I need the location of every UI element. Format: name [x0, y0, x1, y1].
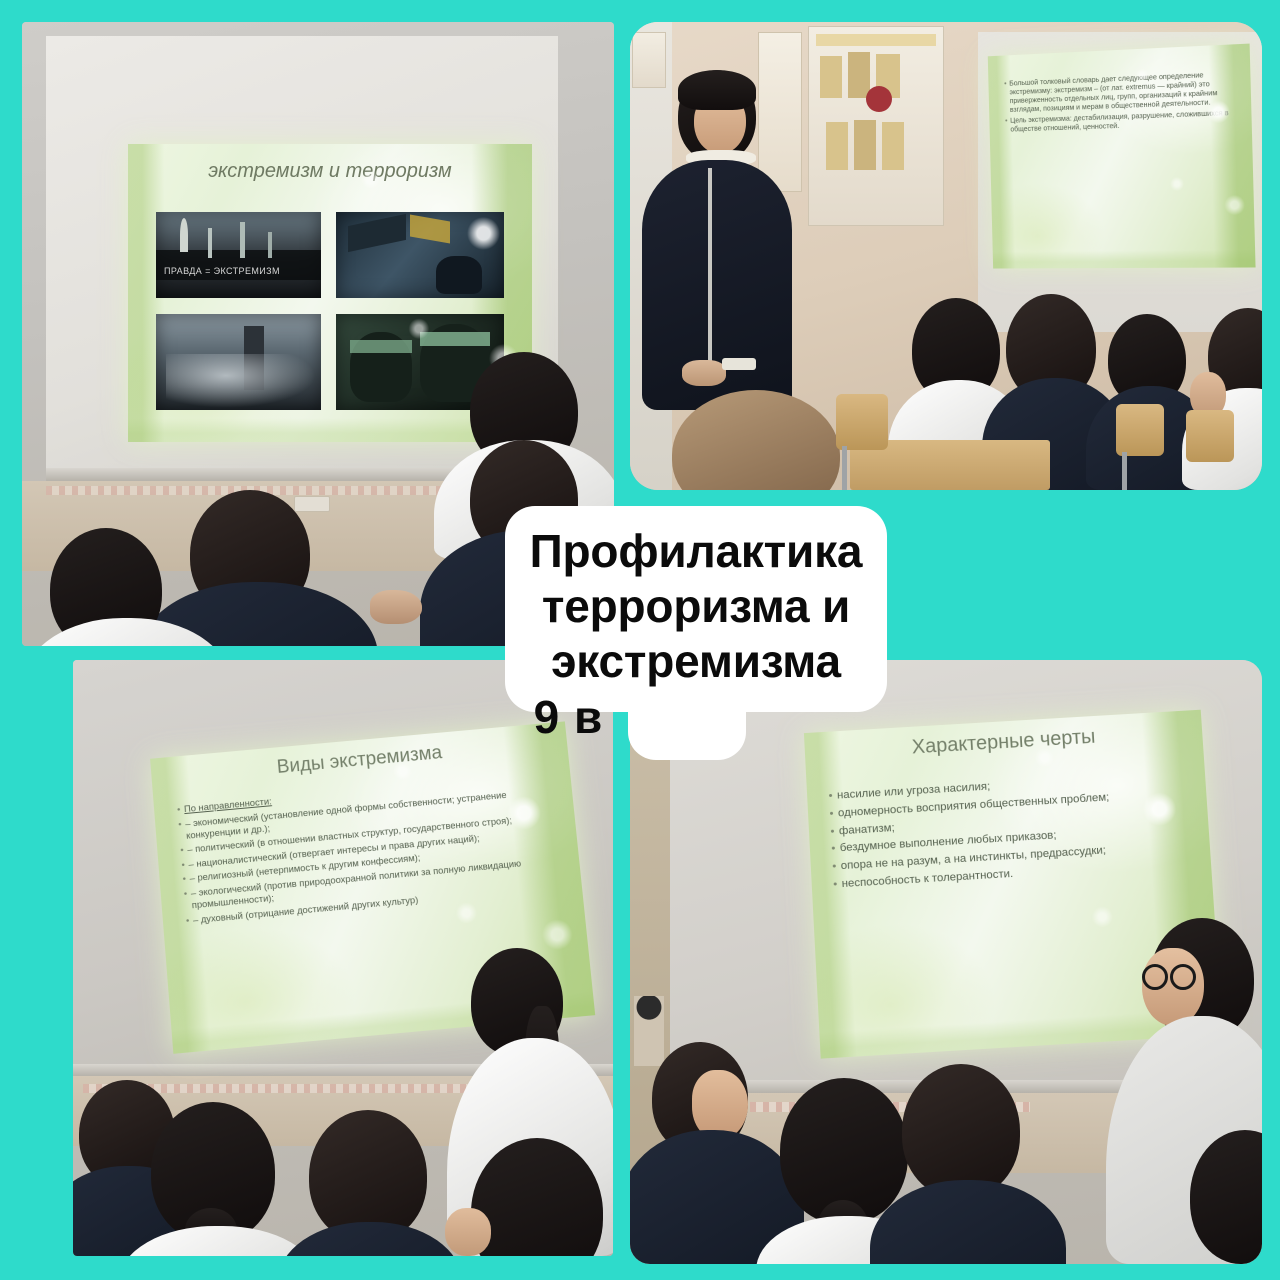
student-head [902, 1064, 1020, 1198]
teacher-hand [682, 360, 726, 386]
chair [836, 394, 888, 450]
photo-panel-bottom-left: Виды экстремизма По направленности: – эк… [73, 660, 613, 1256]
student-hand [370, 590, 422, 624]
slide-bullet-list: насилие или угроза насилия; одномерность… [837, 768, 1194, 895]
photo-panel-bottom-right: Характерные черты насилие или угроза нас… [630, 660, 1262, 1264]
slide-definition-of-extremism: Большой толковый словарь дает следующее … [988, 44, 1256, 269]
slide-photo-2 [336, 212, 504, 298]
title-line-3: экстремизма [505, 634, 887, 689]
glasses-icon [1170, 964, 1196, 990]
title-line-1: Профилактика [505, 524, 887, 579]
title-line-grade: 9 в [250, 690, 887, 745]
slide-bullet-list: Большой толковый словарь дает следующее … [1009, 69, 1237, 136]
anatomy-chart [634, 996, 664, 1066]
photo-panel-top-right: Большой толковый словарь дает следующее … [630, 22, 1262, 490]
wall-poster [758, 32, 802, 192]
chair [1116, 404, 1164, 456]
title-line-2: терроризма и [505, 579, 887, 634]
slide-photo-3 [156, 314, 321, 410]
chair [1186, 410, 1234, 462]
title-text: Профилактика терроризма и экстремизма 9 … [505, 524, 887, 745]
slide-bullet: Большой толковый словарь дает следующее … [1009, 69, 1236, 114]
slide-title: экстремизм и терроризм [128, 160, 532, 183]
clicker [722, 358, 756, 370]
slide-photo-1-caption: ПРАВДА = ЭКСТРЕМИЗМ [164, 266, 280, 276]
student-hand [445, 1208, 491, 1256]
slide-bullet-list: По направленности: – экономический (уста… [184, 770, 563, 928]
photo-collage: экстремизм и терроризм ПРАВДА = ЭКСТРЕМИ… [0, 0, 1280, 1280]
teacher-hair-front [678, 70, 756, 110]
glasses-icon [1142, 964, 1168, 990]
teacher-dress-trim [708, 168, 712, 378]
wall-notice [632, 32, 666, 88]
slide-photo-1: ПРАВДА = ЭКСТРЕМИЗМ [156, 212, 321, 298]
